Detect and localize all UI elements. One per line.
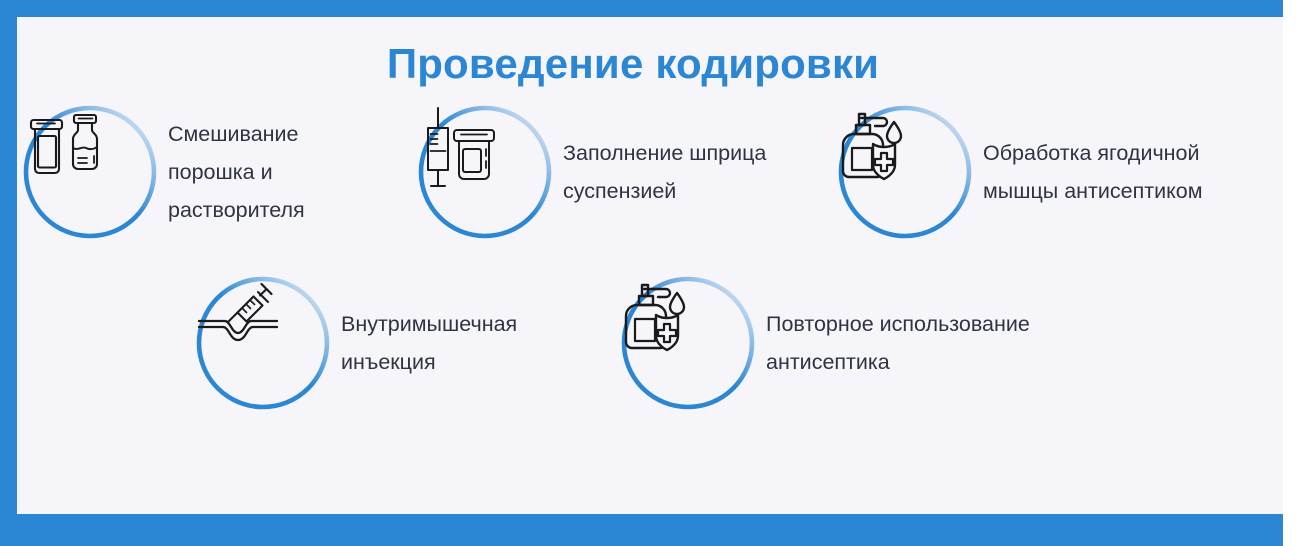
syringe-and-vial-icon — [417, 104, 553, 240]
two-vials-icon — [22, 104, 158, 240]
step-item[interactable]: Смешивание порошка и растворителя — [22, 104, 417, 240]
page-title: Проведение кодировки — [0, 40, 1266, 88]
poster-frame-notch — [17, 508, 225, 514]
steps-row-bottom: Внутримышечная инъекция — [0, 275, 1266, 411]
step-label: Заполнение шприца суспензией — [553, 134, 766, 210]
step-label-line: Заполнение шприца — [563, 134, 766, 172]
poster-frame-corner-gap — [1283, 504, 1300, 546]
step-badge — [195, 275, 331, 411]
step-item[interactable]: Заполнение шприца суспензией — [417, 104, 837, 240]
poster-root: Проведение кодировки — [0, 0, 1300, 546]
step-label-line: Внутримышечная — [341, 305, 517, 343]
step-label-line: растворителя — [168, 191, 305, 229]
step-badge — [837, 104, 973, 240]
step-label: Внутримышечная инъекция — [331, 305, 517, 381]
step-item[interactable]: Внутримышечная инъекция — [195, 275, 620, 411]
step-label: Обработка ягодичной мышцы антисептиком — [973, 134, 1203, 210]
step-label-line: суспензией — [563, 172, 766, 210]
step-badge — [22, 104, 158, 240]
intramuscular-injection-icon — [195, 275, 331, 411]
step-label: Смешивание порошка и растворителя — [158, 115, 305, 229]
step-label-line: Смешивание — [168, 115, 305, 153]
step-label-line: мышцы антисептиком — [983, 172, 1203, 210]
step-label-line: антисептика — [766, 343, 1030, 381]
steps-grid: Смешивание порошка и растворителя — [0, 104, 1266, 411]
antiseptic-dispenser-shield-icon — [837, 104, 973, 240]
steps-row-top: Смешивание порошка и растворителя — [0, 104, 1266, 240]
step-badge — [417, 104, 553, 240]
antiseptic-dispenser-shield-icon — [620, 275, 756, 411]
step-label-line: инъекция — [341, 343, 517, 381]
step-label: Повторное использование антисептика — [756, 305, 1030, 381]
step-item[interactable]: Повторное использование антисептика — [620, 275, 1050, 411]
step-item[interactable]: Обработка ягодичной мышцы антисептиком — [837, 104, 1257, 240]
step-label-line: порошка и — [168, 153, 305, 191]
step-badge — [620, 275, 756, 411]
step-label-line: Повторное использование — [766, 305, 1030, 343]
step-label-line: Обработка ягодичной — [983, 134, 1203, 172]
